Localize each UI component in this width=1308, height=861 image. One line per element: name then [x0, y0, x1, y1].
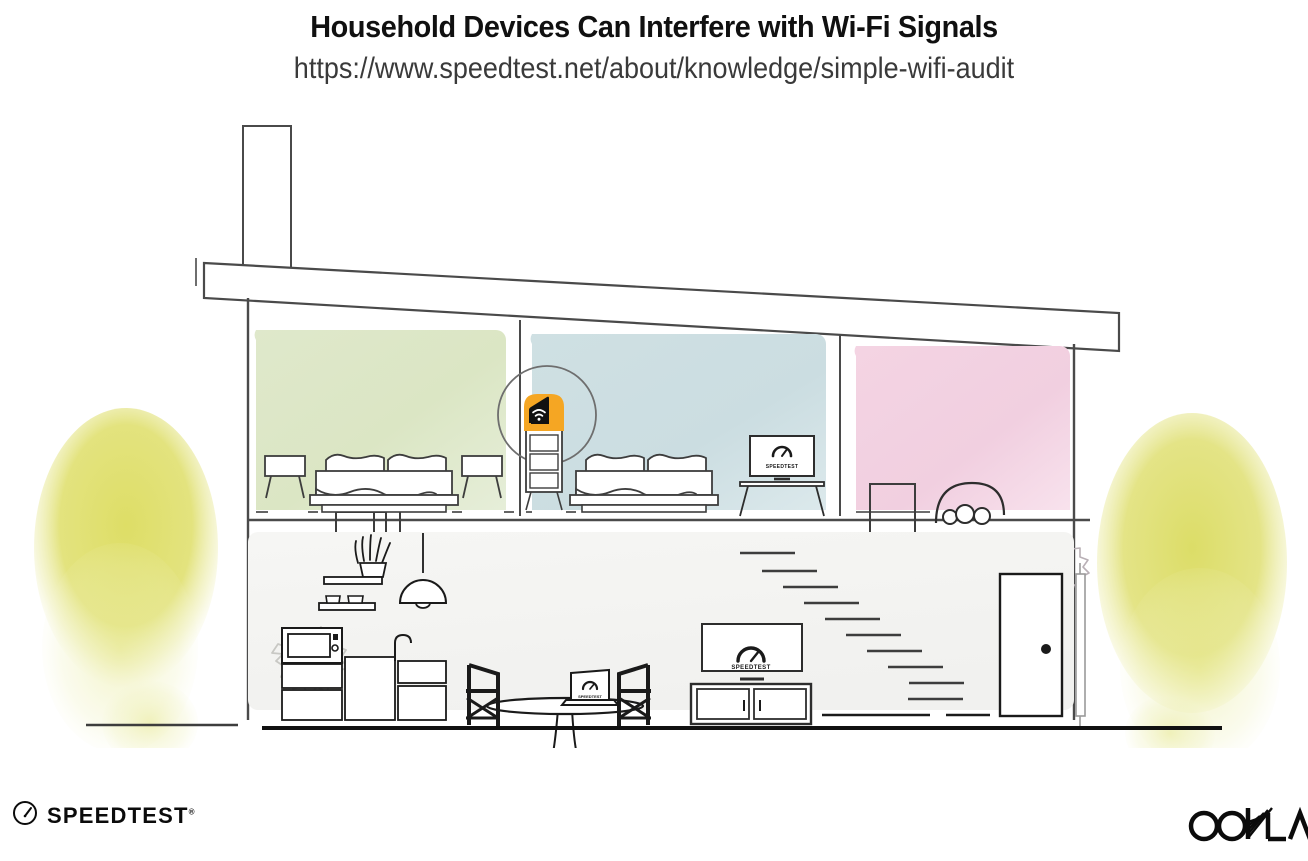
foliage-left — [34, 408, 218, 748]
bed-blue-room — [570, 455, 718, 512]
monitor-screen-brand: SPEEDTEST — [766, 464, 798, 470]
ookla-logo: OOKLA — [1186, 804, 1308, 844]
ground-line — [86, 725, 1222, 728]
ground-floor-open-plan: SPEEDTEST — [248, 532, 1074, 748]
laptop-screen-brand: SPEEDTEST — [578, 694, 602, 699]
source-url: https://www.speedtest.net/about/knowledg… — [65, 45, 1242, 86]
speedtest-logo: SPEEDTEST® — [12, 800, 195, 831]
bed-green-room — [310, 455, 458, 512]
foliage-right — [1097, 413, 1287, 748]
upstairs-bedroom-green — [255, 330, 514, 546]
infographic-page: Household Devices Can Interfere with Wi-… — [0, 0, 1308, 861]
speedtest-wordmark: SPEEDTEST® — [47, 803, 195, 829]
house-illustration: SPEEDTEST — [0, 108, 1308, 748]
front-door — [1000, 574, 1062, 716]
speedometer-gauge-icon — [12, 800, 38, 831]
speedtest-trademark: ® — [189, 807, 195, 816]
wifi-router — [524, 394, 564, 431]
page-title: Household Devices Can Interfere with Wi-… — [46, 0, 1262, 45]
door-knob-icon — [1041, 644, 1051, 654]
header: Household Devices Can Interfere with Wi-… — [0, 0, 1308, 86]
tv-screen-brand: SPEEDTEST — [731, 665, 770, 671]
laptop-speedtest: SPEEDTEST — [562, 670, 618, 705]
footer: SPEEDTEST® OOKLA — [0, 780, 1308, 861]
sidelight-window — [1076, 563, 1085, 730]
chimney — [243, 126, 291, 278]
ookla-rays-icon — [1186, 804, 1308, 844]
upstairs-bedroom-blue: SPEEDTEST — [498, 334, 826, 516]
